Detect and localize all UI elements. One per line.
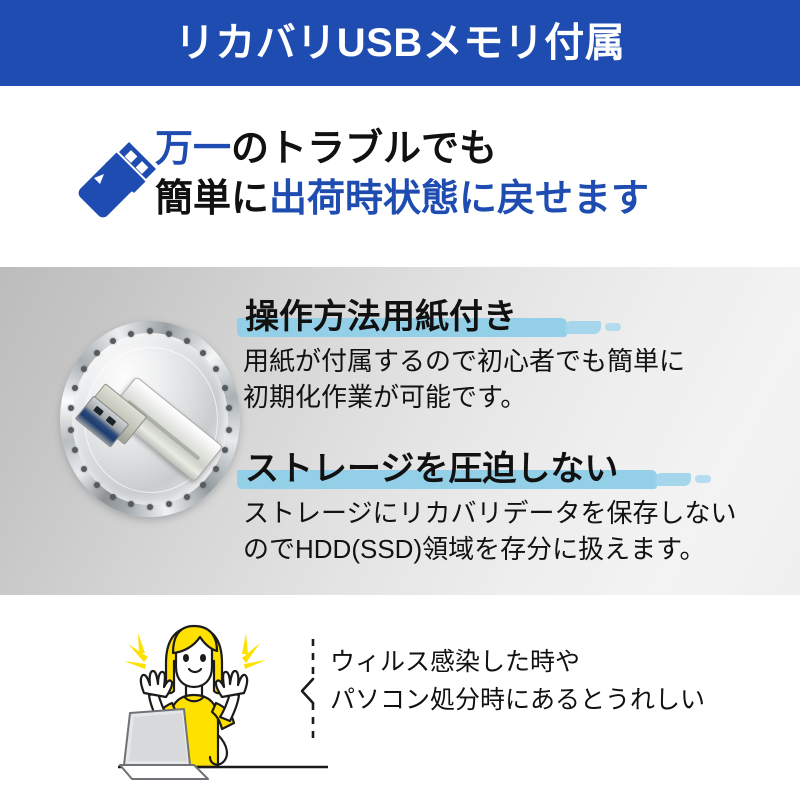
feature-heading-wrap: ストレージを圧迫しない: [243, 447, 624, 491]
laptop-base: [120, 765, 208, 779]
headline-line-2: 簡単に出荷時状態に戻せます: [155, 174, 775, 224]
headline-line-2-lead: 簡単に: [155, 178, 269, 220]
feature-body-line-1: ストレージにリカバリデータを保存しない: [243, 495, 783, 531]
headline-line-1-rest: のトラブルでも: [231, 128, 497, 170]
headline-line-1-emphasis: 万一: [155, 128, 231, 170]
usb-stick: [76, 361, 224, 481]
callout-text: ウィルス感染した時や パソコン処分時にあるとうれしい: [330, 643, 780, 719]
features-section: 操作方法用紙付き 用紙が付属するので初心者でも簡単に 初期化作業が可能です。 ス…: [0, 267, 800, 595]
banner-title: リカバリUSBメモリ付属: [175, 23, 625, 63]
feature-item: ストレージを圧迫しない ストレージにリカバリデータを保存しない のでHDD(SS…: [243, 447, 783, 567]
bottom-section: ウィルス感染した時や パソコン処分時にあるとうれしい: [0, 595, 800, 800]
pointer-notch: [302, 679, 313, 703]
feature-text-column: 操作方法用紙付き 用紙が付属するので初心者でも簡単に 初期化作業が可能です。 ス…: [243, 267, 783, 567]
callout-line-1: ウィルス感染した時や: [330, 643, 780, 681]
header-banner: リカバリUSBメモリ付属: [0, 0, 800, 86]
usb-flash-drive-icon: [74, 138, 160, 220]
feature-body-line-1: 用紙が付属するので初心者でも簡単に: [243, 343, 783, 379]
woman-at-laptop-illustration: [118, 617, 328, 785]
feature-heading-wrap: 操作方法用紙付き: [243, 295, 523, 339]
eye-left: [183, 654, 189, 662]
eye-right: [200, 654, 206, 662]
headline-line-2-emphasis: 出荷時状態に戻せます: [269, 178, 649, 220]
headline-text: 万一のトラブルでも 簡単に出荷時状態に戻せます: [155, 124, 775, 224]
promo-banner-page: リカバリUSBメモリ付属 万一のトラブルでも: [0, 0, 800, 800]
callout-pointer: [300, 637, 326, 745]
headline-line-1: 万一のトラブルでも: [155, 124, 775, 174]
feature-body-line-2: 初期化作業が可能です。: [243, 379, 783, 415]
feature-heading: ストレージを圧迫しない: [245, 447, 618, 491]
feature-heading: 操作方法用紙付き: [245, 295, 517, 339]
laptop-screen-inner: [129, 713, 187, 761]
headline-section: 万一のトラブルでも 簡単に出荷時状態に戻せます: [0, 86, 800, 267]
callout-line-2: パソコン処分時にあるとうれしい: [330, 681, 780, 719]
usb-connector-pin-2: [106, 416, 117, 426]
usb-flash-drive-photo: [52, 317, 248, 522]
usb-connector-pin-1: [93, 406, 104, 416]
feature-item: 操作方法用紙付き 用紙が付属するので初心者でも簡単に 初期化作業が可能です。: [243, 295, 783, 415]
feature-body-line-2: のでHDD(SSD)領域を存分に扱えます。: [243, 531, 783, 567]
